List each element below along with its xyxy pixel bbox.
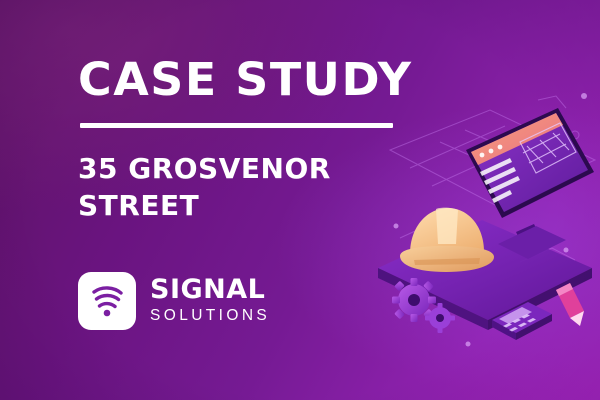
banner-subtitle: 35 GROSVENOR STREET [78,150,368,224]
logo-wordmark: SIGNAL SOLUTIONS [150,276,270,326]
hard-hat-icon [400,208,494,272]
logo-name-secondary: SOLUTIONS [150,307,270,326]
page-title: CASE STUDY [78,56,415,103]
banner-text-block: CASE STUDY 35 GROSVENOR STREET [78,56,408,225]
logo-mark [78,272,136,330]
pen-icon [556,283,584,326]
brand-logo-lockup: SIGNAL SOLUTIONS [78,272,270,330]
logo-name-primary: SIGNAL [150,276,270,304]
signal-waves-icon [88,282,126,320]
case-study-banner: CASE STUDY 35 GROSVENOR STREET SIGNAL SO… [0,0,600,400]
title-divider [80,123,393,128]
